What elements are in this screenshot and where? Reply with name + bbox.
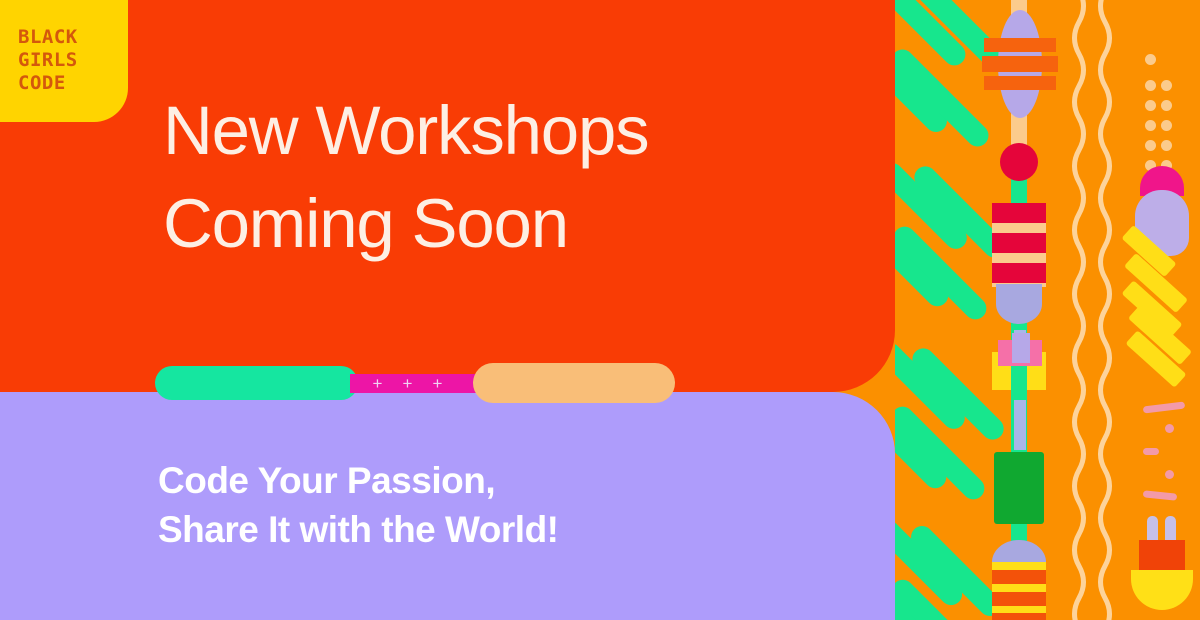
dot-grid-dot bbox=[1161, 140, 1172, 151]
totem-lavender-inset bbox=[1014, 400, 1026, 450]
logo-line-3: CODE bbox=[18, 72, 66, 95]
totem-orange-bar bbox=[982, 56, 1058, 72]
logo-line-2: GIRLS bbox=[18, 49, 78, 72]
subheadline: Code Your Passion, Share It with the Wor… bbox=[158, 456, 559, 554]
dot-grid-dot bbox=[1145, 54, 1156, 65]
totem-crimson-stripe bbox=[992, 263, 1046, 283]
yellow-crescent bbox=[1131, 570, 1193, 610]
dot-grid-dot bbox=[1145, 140, 1156, 151]
totem-lavender-dome bbox=[996, 284, 1042, 324]
totem-crimson-stripe bbox=[992, 233, 1046, 253]
pink-dot bbox=[1165, 470, 1174, 479]
dot-grid-dot bbox=[1161, 100, 1172, 111]
wavy-lines-pattern bbox=[1065, 0, 1125, 620]
totem-green-rectangle bbox=[994, 452, 1044, 524]
pink-dash bbox=[1143, 448, 1159, 455]
totem-crimson-circle bbox=[1000, 143, 1038, 181]
divider-graphic: + + + bbox=[155, 363, 675, 403]
plus-icon: + bbox=[368, 374, 387, 393]
totem-orange-bar bbox=[984, 76, 1056, 90]
divider-peach-pill bbox=[473, 363, 675, 403]
plus-icon: + bbox=[398, 374, 417, 393]
totem-orange-stripe bbox=[992, 613, 1046, 620]
divider-green-pill bbox=[155, 366, 358, 400]
dot-grid-dot bbox=[1145, 120, 1156, 131]
headline-line-2: Coming Soon bbox=[163, 177, 648, 270]
black-girls-code-logo: BLACK GIRLS CODE bbox=[0, 0, 128, 122]
logo-line-1: BLACK bbox=[18, 26, 78, 49]
subheadline-line-2: Share It with the World! bbox=[158, 505, 559, 554]
totem-column bbox=[990, 0, 1050, 620]
subheadline-line-1: Code Your Passion, bbox=[158, 456, 559, 505]
decorative-panel bbox=[895, 0, 1200, 620]
totem-orange-stripe bbox=[992, 570, 1046, 584]
totem-crimson-stripe bbox=[992, 203, 1046, 223]
pink-dot bbox=[1165, 424, 1174, 433]
plus-icon: + bbox=[428, 374, 447, 393]
dot-grid-dot bbox=[1145, 100, 1156, 111]
pink-dash bbox=[1143, 401, 1186, 413]
headline-line-1: New Workshops bbox=[163, 84, 648, 177]
headline: New Workshops Coming Soon bbox=[163, 84, 648, 270]
totem-orange-bar bbox=[984, 38, 1056, 52]
dot-grid-dot bbox=[1145, 80, 1156, 91]
pink-dash bbox=[1143, 490, 1178, 501]
totem-orange-stripe bbox=[992, 592, 1046, 606]
dot-grid-dot bbox=[1161, 120, 1172, 131]
totem-green-spine-seg bbox=[1011, 366, 1027, 396]
totem-lavender-block bbox=[1012, 333, 1030, 363]
dot-grid-dot bbox=[1161, 80, 1172, 91]
event-banner: BLACK GIRLS CODE New Workshops Coming So… bbox=[0, 0, 1200, 620]
